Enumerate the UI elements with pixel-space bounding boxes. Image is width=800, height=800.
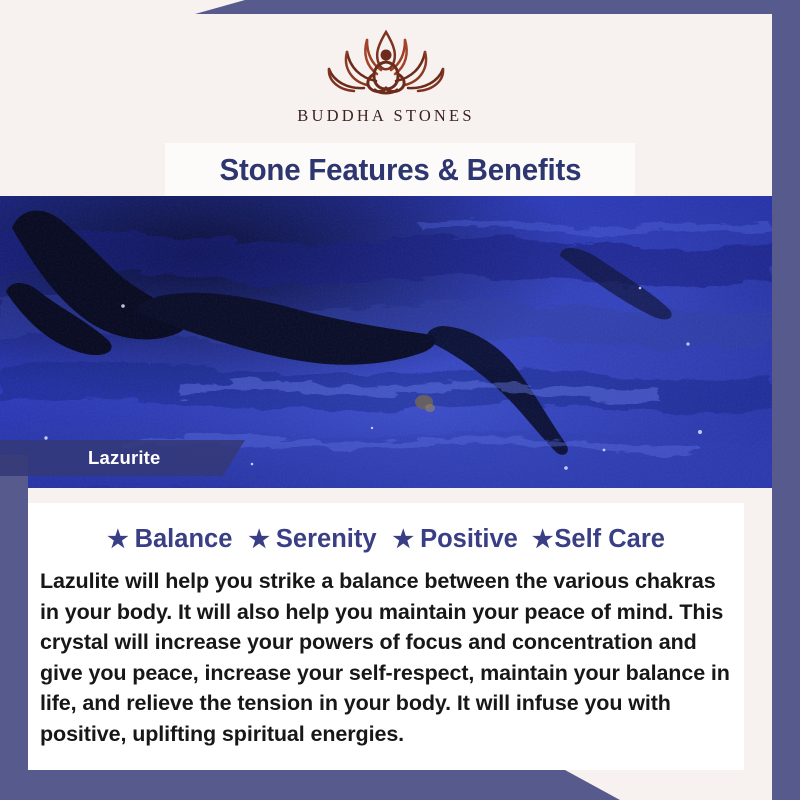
lazurite-rock-photo: Lazurite <box>0 196 772 488</box>
star-icon: ★ <box>393 528 415 552</box>
stone-name-badge: Lazurite <box>0 440 245 476</box>
keyword-item-serenity: ★ Serenity <box>248 525 376 554</box>
brand-name: BUDDHA STONES <box>297 106 474 126</box>
keyword-item-balance: ★ Balance <box>107 525 232 554</box>
keyword-label: Positive <box>420 525 518 554</box>
brand-header: BUDDHA STONES <box>0 14 772 144</box>
benefits-description: Lazulite will help you strike a balance … <box>38 566 734 749</box>
page-background: BUDDHA STONES Stone Features & Benefits <box>0 14 772 770</box>
keyword-item-self-care: ★ Self Care <box>532 525 665 554</box>
frame-top-bar <box>195 0 800 14</box>
keyword-list: ★ Balance ★ Serenity ★ Positive ★ Self C… <box>38 525 734 554</box>
frame-right-bar <box>772 0 800 800</box>
keyword-label: Serenity <box>276 525 377 554</box>
keyword-label: Balance <box>135 525 233 554</box>
benefits-card: ★ Balance ★ Serenity ★ Positive ★ Self C… <box>28 503 744 770</box>
star-icon: ★ <box>532 528 554 552</box>
page-title: Stone Features & Benefits <box>219 152 581 188</box>
lotus-meditation-icon <box>311 26 461 104</box>
keyword-label: Self Care <box>554 525 665 554</box>
keyword-item-positive: ★ Positive <box>393 525 518 554</box>
frame-bottom-bar <box>0 770 620 800</box>
stone-name-label: Lazurite <box>88 447 161 469</box>
star-icon: ★ <box>248 528 270 552</box>
star-icon: ★ <box>107 528 129 552</box>
title-panel: Stone Features & Benefits <box>165 143 635 196</box>
stone-benefits-poster: BUDDHA STONES Stone Features & Benefits <box>0 0 800 800</box>
